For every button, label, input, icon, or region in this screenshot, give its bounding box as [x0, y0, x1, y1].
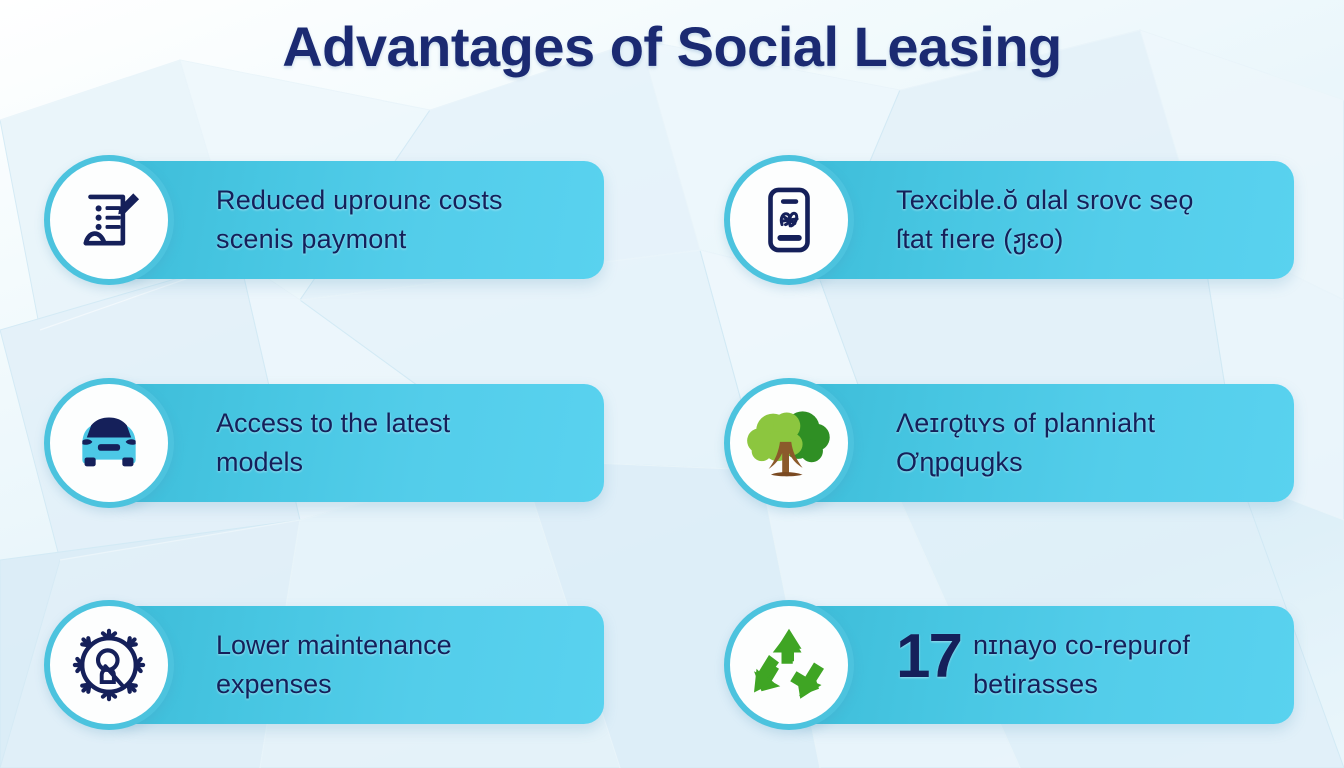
- card-line-1: Ʌeɪɾǫtɩʏs of planniaht: [896, 408, 1155, 438]
- icon-circle: [44, 378, 174, 508]
- tree-icon: [746, 403, 832, 483]
- card-line-1: nɪnayo co-repuɾof: [973, 630, 1190, 660]
- gear-maintenance-icon: [70, 626, 148, 704]
- page-title: Advantages of Social Leasing: [282, 14, 1062, 79]
- icon-circle: [724, 378, 854, 508]
- contract-document-pen-icon: [72, 183, 146, 257]
- card-line-1: Reduced uprounɛ costs: [216, 185, 503, 215]
- icon-circle: [724, 155, 854, 285]
- card-text: Lower maintenance expenses: [216, 626, 616, 704]
- card-line-2: ſtat fıere (ჟɛo): [896, 220, 1306, 259]
- card-text: Access to the latest models: [216, 404, 616, 482]
- card-line-2: models: [216, 443, 616, 482]
- card-text: Ʌeɪɾǫtɩʏs of planniaht Ơɳpquɡks: [896, 404, 1306, 482]
- card-text: Texcible.ŏ ɑlal srovc seǫ ſtat fıere (ჟɛ…: [896, 181, 1306, 259]
- card-big-number: 17: [896, 628, 961, 687]
- smartphone-icon: [754, 183, 824, 257]
- icon-circle: [44, 155, 174, 285]
- card-text: 17 nɪnayo co-repuɾof betirasses: [896, 626, 1306, 704]
- card-line-2: expenses: [216, 665, 616, 704]
- car-front-icon: [69, 410, 149, 476]
- card-line-2: scenis paymont: [216, 220, 616, 259]
- card-line-1: Access to the latest: [216, 408, 450, 438]
- page-title-wrap: Advantages of Social Leasing: [0, 14, 1344, 79]
- card-line-1: Texcible.ŏ ɑlal srovc seǫ: [896, 185, 1194, 215]
- icon-circle: [44, 600, 174, 730]
- card-line-2: Ơɳpquɡks: [896, 443, 1306, 482]
- advantages-grid: Reduced uprounɛ costs scenis paymont: [0, 140, 1344, 750]
- recycle-icon: [749, 626, 829, 704]
- card-line-1: Lower maintenance: [216, 630, 452, 660]
- icon-circle: [724, 600, 854, 730]
- card-text: Reduced uprounɛ costs scenis paymont: [216, 181, 616, 259]
- infographic-canvas: Advantages of Social Leasing: [0, 0, 1344, 768]
